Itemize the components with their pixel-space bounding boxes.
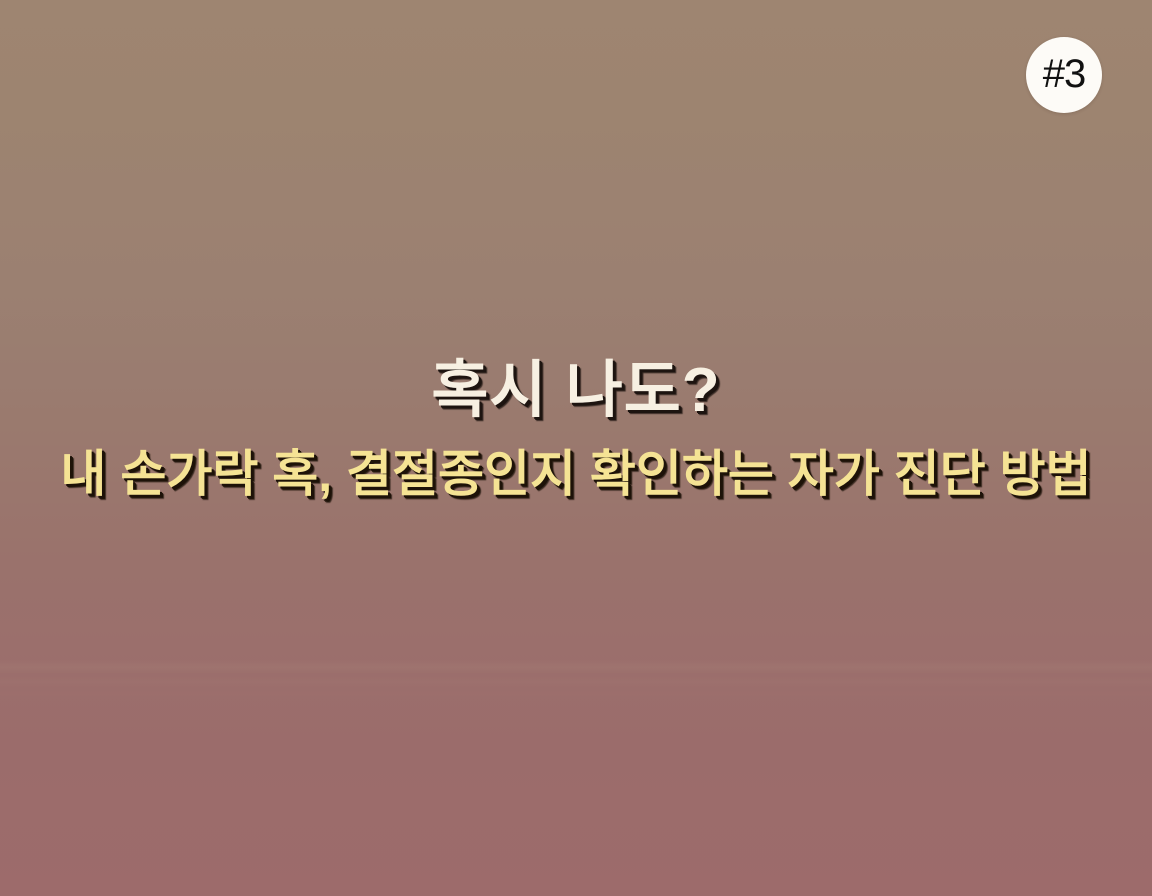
text-block: 혹시 나도? 내 손가락 혹, 결절종인지 확인하는 자가 진단 방법 [0,0,1152,896]
page-subtitle: 내 손가락 혹, 결절종인지 확인하는 자가 진단 방법 [60,447,1091,502]
slide-canvas: #3 혹시 나도? 내 손가락 혹, 결절종인지 확인하는 자가 진단 방법 [0,0,1152,896]
slide-number-badge: #3 [1026,37,1102,113]
page-title: 혹시 나도? [431,358,720,423]
background-banding-artifact-3 [0,690,1152,698]
slide-number-badge-label: #3 [1043,54,1086,94]
background-banding-artifact-2 [0,676,1152,688]
background-banding-artifact-1 [0,660,1152,674]
